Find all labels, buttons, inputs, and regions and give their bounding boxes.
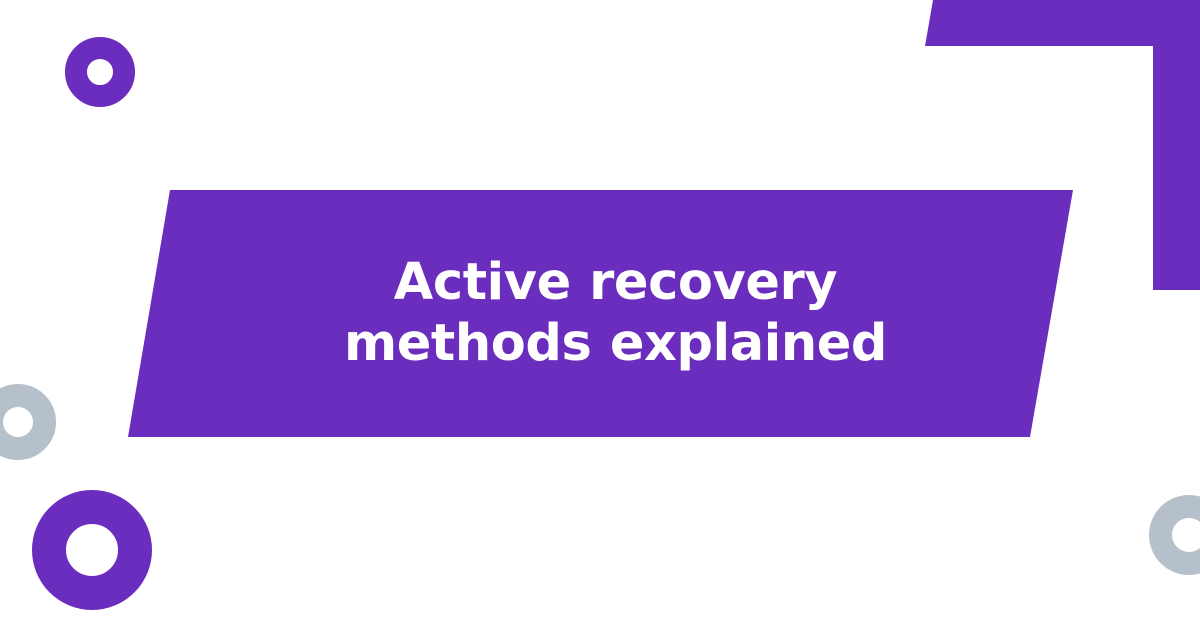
ring-bottom-right-gray-icon xyxy=(1161,507,1200,564)
title-banner-shape xyxy=(128,190,1073,437)
ring-left-gray-icon xyxy=(0,396,45,449)
ring-top-left-icon xyxy=(76,48,124,96)
ring-bottom-left-icon xyxy=(49,507,135,593)
decorative-shapes-layer xyxy=(0,0,1200,630)
social-card: Active recovery methods explained xyxy=(0,0,1200,630)
